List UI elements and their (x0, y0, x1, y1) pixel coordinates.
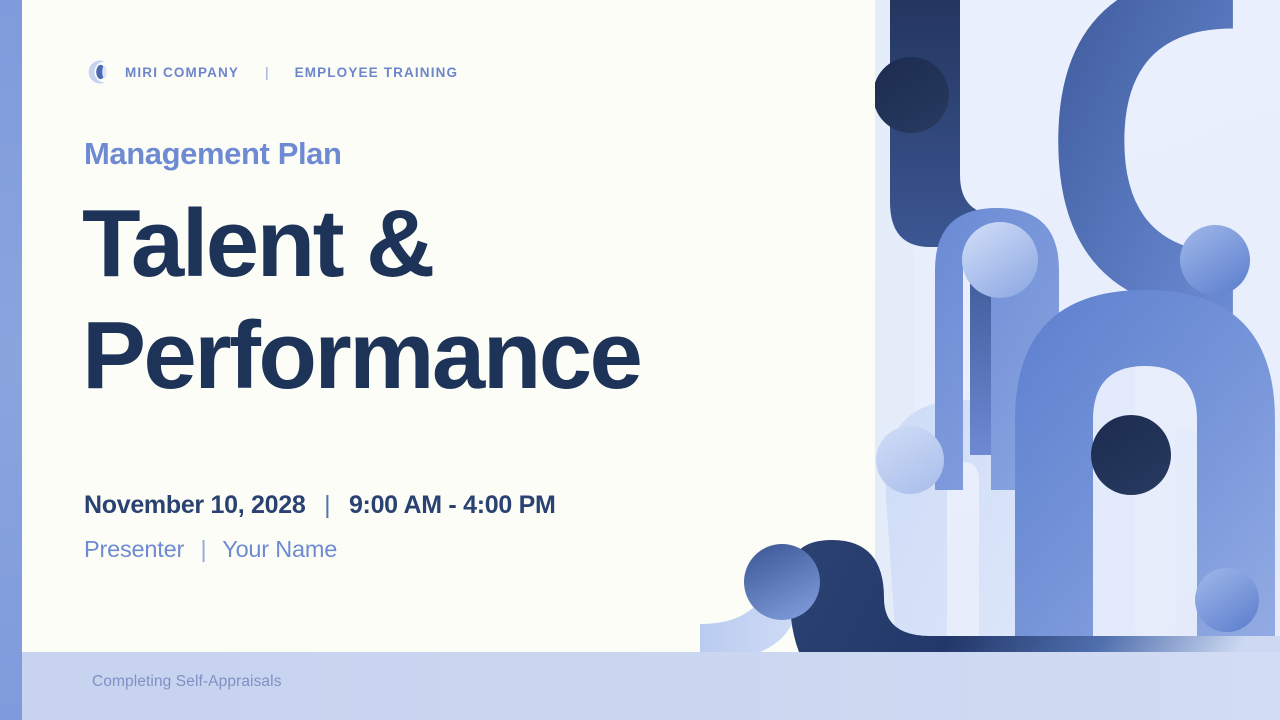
dark-circle-arch-top (1091, 415, 1171, 495)
left-accent-stripe (0, 0, 22, 720)
eyebrow-subtitle: Management Plan (84, 136, 342, 172)
brand-tagline: EMPLOYEE TRAINING (295, 65, 459, 80)
event-date: November 10, 2028 (84, 491, 305, 519)
title-line-1: Talent & (82, 190, 433, 297)
page-title: Talent & Performance (82, 188, 842, 412)
presenter-line: Presenter | Your Name (84, 536, 337, 563)
date-time-line: November 10, 2028 | 9:00 AM - 4:00 PM (84, 491, 556, 520)
brand-separator: | (265, 65, 269, 80)
dark-circle-top-left (875, 57, 949, 133)
footer-caption: Completing Self-Appraisals (92, 673, 282, 691)
light-circle-mid-right (1180, 225, 1250, 295)
pale-circle-lower-left (876, 426, 944, 494)
presenter-label: Presenter (84, 536, 184, 562)
event-time: 9:00 AM - 4:00 PM (349, 491, 556, 519)
decorative-art-panel (875, 0, 1280, 720)
presenter-separator: | (200, 536, 206, 562)
circle-arch-right-foot (1195, 568, 1259, 632)
crescent-c-logo-icon (85, 58, 113, 86)
date-time-separator: | (324, 491, 330, 519)
light-circle-mid-left (962, 222, 1038, 298)
brand-row: MIRI COMPANY | EMPLOYEE TRAINING (85, 58, 458, 86)
presenter-name: Your Name (222, 536, 337, 562)
presentation-slide: Completing Self-Appraisals MIRI COMPANY … (0, 0, 1280, 720)
brand-company-name: MIRI COMPANY (125, 65, 239, 80)
title-line-2: Performance (82, 300, 842, 412)
